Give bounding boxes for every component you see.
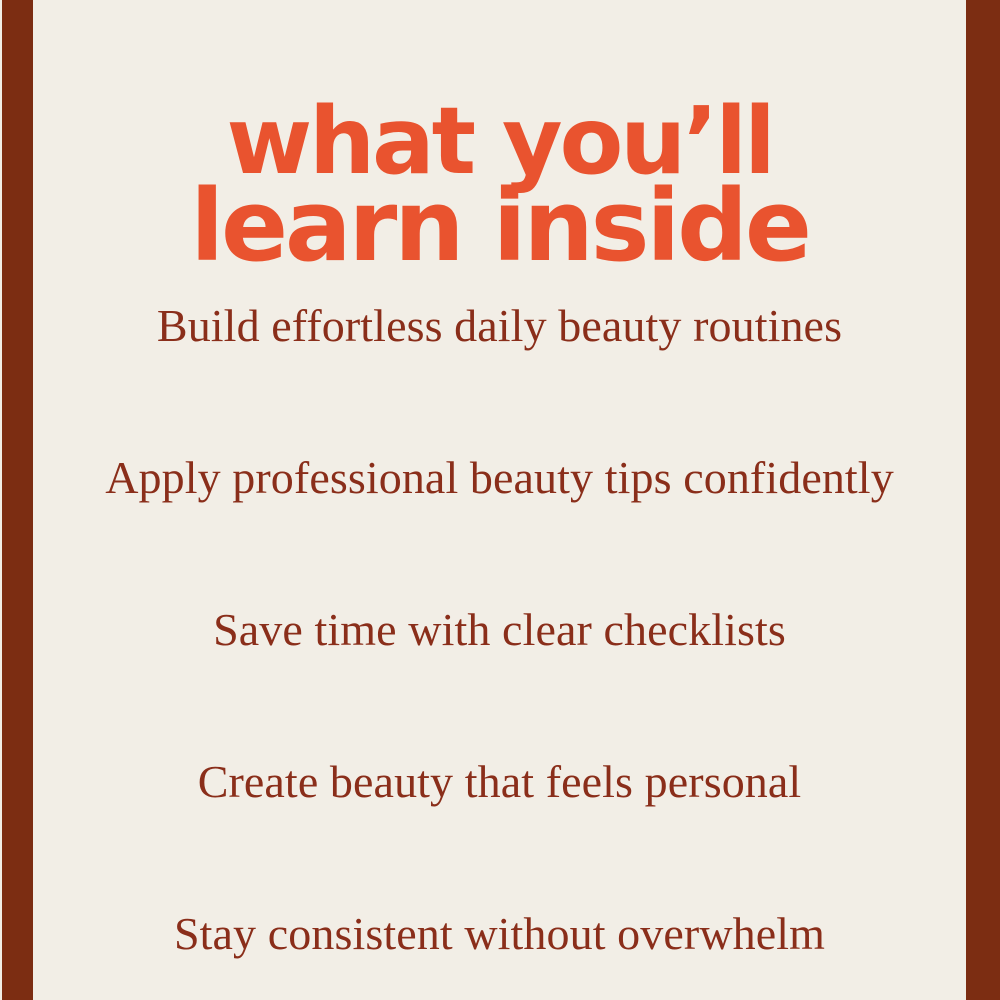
- benefit-text: Build effortless daily beauty routines: [33, 300, 966, 352]
- benefit-text: Stay consistent without overwhelm: [33, 908, 966, 960]
- list-item: Create beauty that feels personal: [33, 706, 966, 858]
- page-title: what you’ll learn inside: [33, 98, 966, 270]
- list-item: Stay consistent without overwhelm: [33, 858, 966, 1000]
- poster-content: what you’ll learn inside Build effortles…: [33, 0, 966, 1000]
- benefit-text: Apply professional beauty tips confident…: [33, 452, 966, 504]
- benefits-list: Build effortless daily beauty routines A…: [33, 250, 966, 1000]
- benefit-text: Create beauty that feels personal: [33, 756, 966, 808]
- list-item: Apply professional beauty tips confident…: [33, 402, 966, 554]
- poster-canvas: what you’ll learn inside Build effortles…: [0, 0, 1000, 1000]
- benefit-text: Save time with clear checklists: [33, 604, 966, 656]
- list-item: Build effortless daily beauty routines: [33, 250, 966, 402]
- list-item: Save time with clear checklists: [33, 554, 966, 706]
- left-vertical-bar: [2, 0, 33, 1000]
- right-vertical-bar: [966, 0, 1000, 1000]
